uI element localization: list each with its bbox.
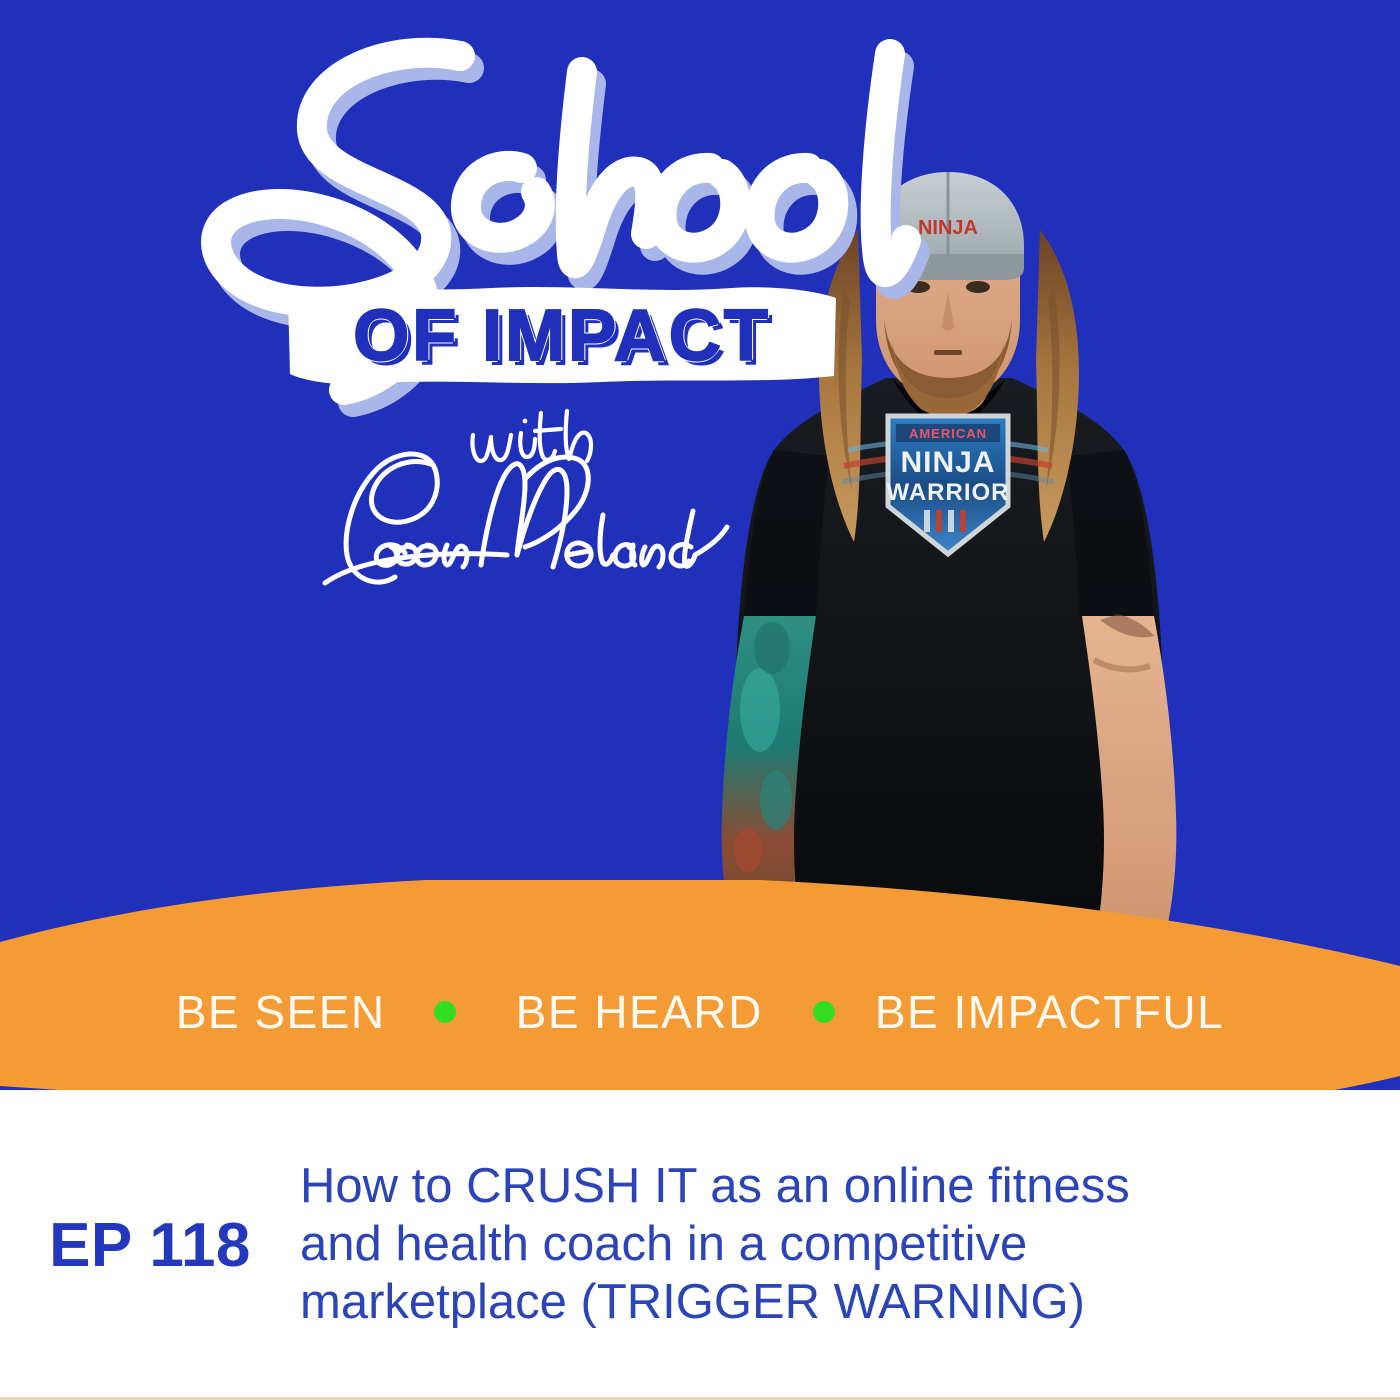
episode-title-line-1: How to CRUSH IT as an online fitness <box>300 1158 1354 1216</box>
episode-title-line-3: marketplace (TRIGGER WARNING) <box>300 1274 1354 1332</box>
shirt-logo-line1: AMERICAN <box>909 426 987 441</box>
episode-title-line-2: and health coach in a competitive <box>300 1216 1354 1274</box>
episode-number: EP 118 <box>0 1210 300 1281</box>
of-impact-badge: OF IMPACT <box>282 278 842 394</box>
podcast-cover-art: NINJA AMERICAN NINJA WARRIOR <box>0 0 1400 1400</box>
episode-footer: EP 118 How to CRUSH IT as an online fitn… <box>0 1090 1400 1400</box>
shirt-logo-line3: WARRIOR <box>887 479 1010 506</box>
episode-title: How to CRUSH IT as an online fitness and… <box>300 1158 1400 1331</box>
of-impact-text: OF IMPACT <box>282 278 842 394</box>
host-signature <box>285 405 755 615</box>
shirt-logo-line2: NINJA <box>900 446 995 479</box>
